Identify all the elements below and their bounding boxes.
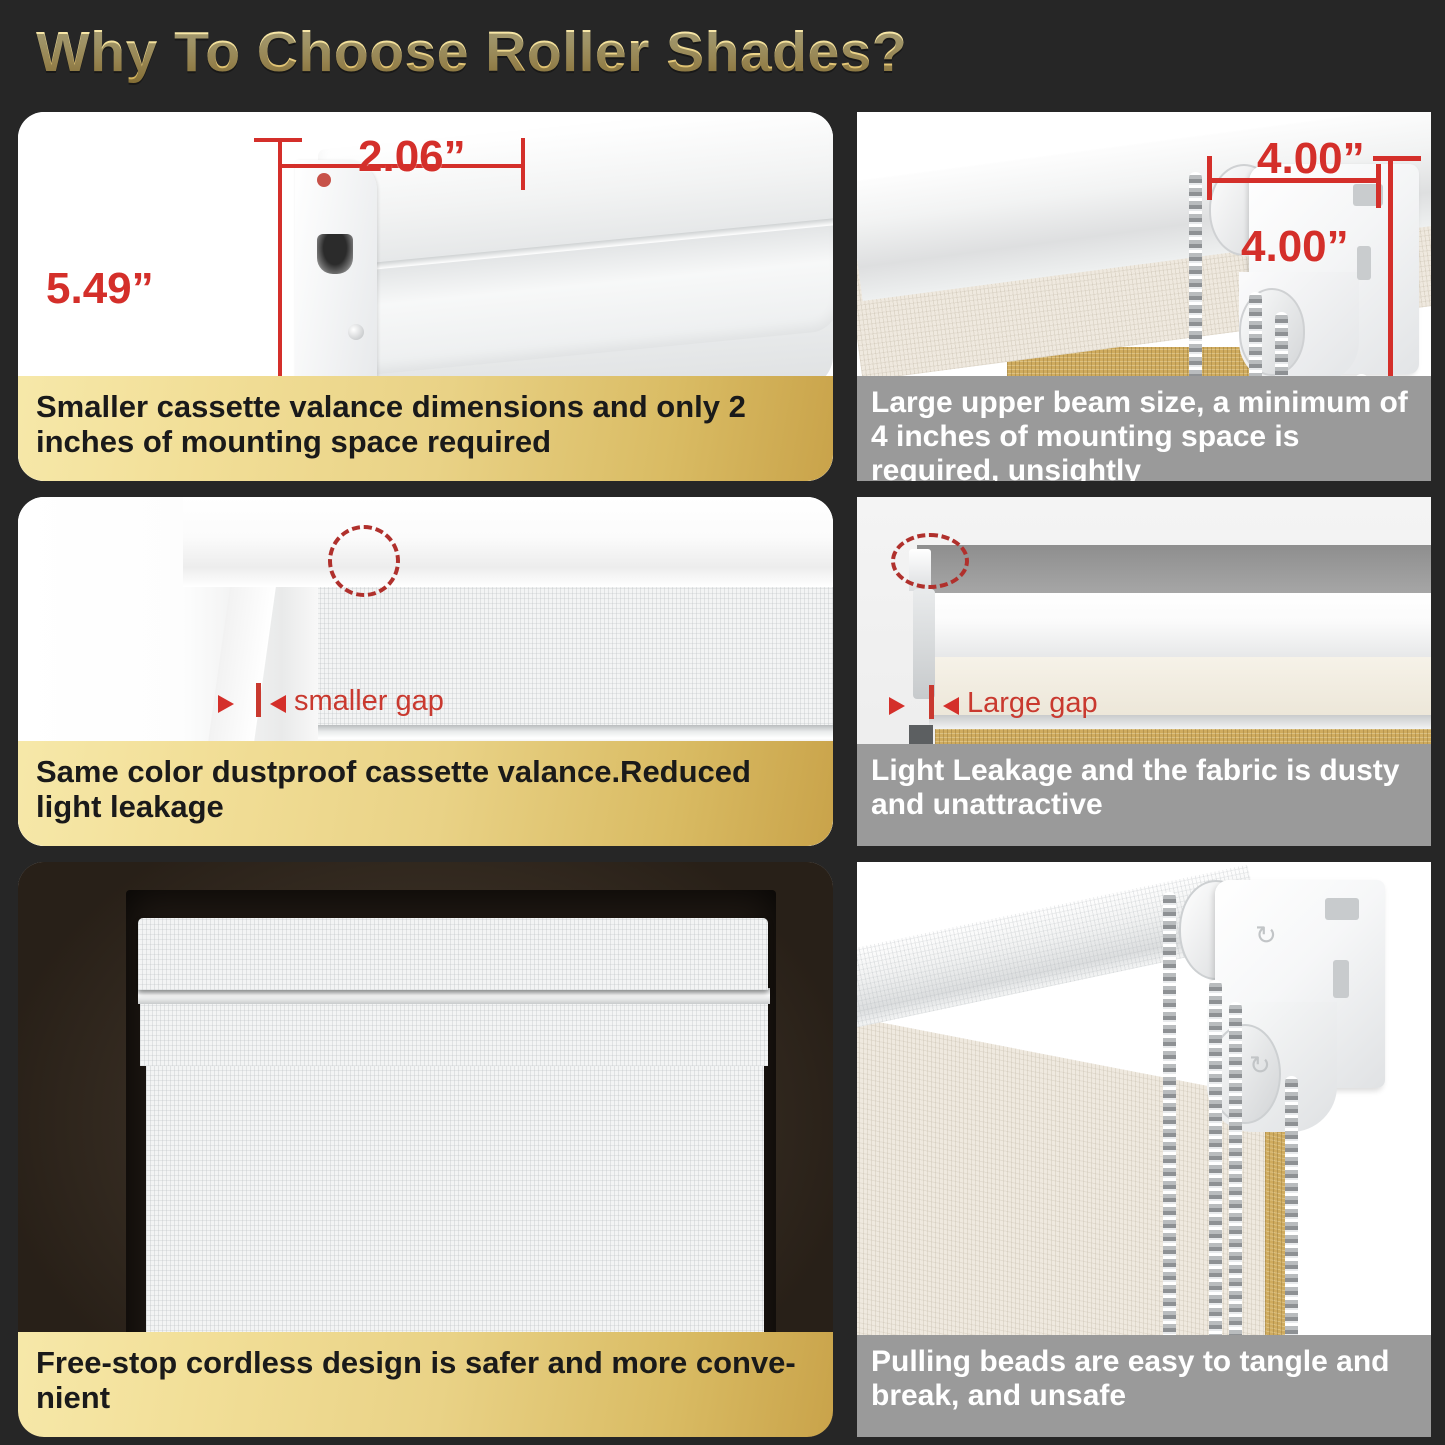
comparison-grid: 2.06” 5.49” Smaller cassette valance dim… xyxy=(0,104,1445,1445)
beam-width-tick-left xyxy=(1207,156,1212,200)
valance-slot xyxy=(317,234,353,274)
width-dimension-tick-right xyxy=(521,138,525,190)
highlight-circle xyxy=(891,533,969,589)
bracket-slot-1 xyxy=(1325,898,1359,920)
beam-width-label: 4.00” xyxy=(1257,134,1365,184)
gap-marker xyxy=(929,685,934,719)
caption-cassette-valance-dimensions: Smaller cassette valance dimensions and … xyxy=(18,376,833,481)
valance-lower-face xyxy=(140,1004,768,1066)
beam-width-tick-right xyxy=(1376,164,1381,208)
page-header: Why To Choose Roller Shades? xyxy=(0,0,1445,104)
gap-arrow-right xyxy=(270,695,286,713)
bead-chain-4 xyxy=(1285,1076,1298,1344)
height-dimension-tick-top xyxy=(254,138,302,142)
gap-arrow-left xyxy=(218,695,234,713)
width-dimension-label: 2.06” xyxy=(358,132,466,182)
valance-pin xyxy=(317,173,331,187)
caption-text: Pulling beads are easy to tangle and bre… xyxy=(871,1345,1419,1413)
window-frame-top xyxy=(183,497,833,587)
caption-text: Same color dustproof cassette valance.Re… xyxy=(36,754,817,824)
beam-height-label: 4.00” xyxy=(1241,222,1349,272)
panel-large-upper-beam: 4.00” 4.00” Large upper beam size, a min… xyxy=(857,112,1431,481)
height-dimension-label: 5.49” xyxy=(46,264,154,314)
caption-cordless-design: Free-stop cordless design is safer and m… xyxy=(18,1332,833,1437)
highlight-circle xyxy=(328,525,400,597)
panel-cell-cordless-design: Free-stop cordless design is safer and m… xyxy=(0,854,851,1445)
valance-rail xyxy=(138,988,770,1004)
panel-cell-pulling-beads: ↻ ↻ Pulling beads are easy to tangle and… xyxy=(851,854,1445,1445)
gap-arrow-right xyxy=(943,697,959,715)
caption-large-upper-beam: Large upper beam size, a minimum of 4 in… xyxy=(857,376,1431,481)
panel-cordless-design: Free-stop cordless design is safer and m… xyxy=(18,862,833,1437)
caption-text: Light Leakage and the fabric is dusty an… xyxy=(871,754,1419,822)
gap-marker xyxy=(256,683,261,717)
rotation-arrow-icon: ↻ xyxy=(1255,920,1277,951)
page-title: Why To Choose Roller Shades? xyxy=(36,19,907,85)
bracket-clip xyxy=(913,589,935,699)
panel-cell-large-upper-beam: 4.00” 4.00” Large upper beam size, a min… xyxy=(851,104,1445,489)
large-gap-label: Large gap xyxy=(967,687,1098,720)
panel-pulling-beads: ↻ ↻ Pulling beads are easy to tangle and… xyxy=(857,862,1431,1437)
panel-cassette-valance-dimensions: 2.06” 5.49” Smaller cassette valance dim… xyxy=(18,112,833,481)
valance-screw xyxy=(348,324,364,340)
bracket-notch-2 xyxy=(1357,246,1371,280)
panel-cell-dustproof-cassette: smaller gap Same color dustproof cassett… xyxy=(0,489,851,854)
caption-dustproof-cassette: Same color dustproof cassette valance.Re… xyxy=(18,741,833,846)
bead-chain-1 xyxy=(1163,892,1176,1344)
cassette-valance xyxy=(138,918,768,990)
caption-text: Free-stop cordless design is safer and m… xyxy=(36,1345,817,1415)
smaller-gap-label: smaller gap xyxy=(294,685,444,718)
gap-arrow-left xyxy=(889,697,905,715)
rotation-arrow-icon: ↻ xyxy=(1249,1050,1271,1081)
caption-text: Large upper beam size, a minimum of 4 in… xyxy=(871,386,1419,481)
panel-cell-light-leakage: Large gap Light Leakage and the fabric i… xyxy=(851,489,1445,854)
valance-top xyxy=(917,593,1431,663)
caption-light-leakage: Light Leakage and the fabric is dusty an… xyxy=(857,744,1431,846)
bead-chain-3 xyxy=(1229,1002,1242,1344)
bead-chain-2 xyxy=(1209,980,1222,1344)
bracket-slot-2 xyxy=(1333,960,1349,998)
beam-shadow xyxy=(917,545,1431,597)
panel-dustproof-cassette: smaller gap Same color dustproof cassett… xyxy=(18,497,833,846)
roller-shade-fabric xyxy=(146,1066,764,1366)
panel-cell-cassette-valance-dimensions: 2.06” 5.49” Smaller cassette valance dim… xyxy=(0,104,851,489)
caption-pulling-beads: Pulling beads are easy to tangle and bre… xyxy=(857,1335,1431,1437)
panel-light-leakage: Large gap Light Leakage and the fabric i… xyxy=(857,497,1431,846)
caption-text: Smaller cassette valance dimensions and … xyxy=(36,389,817,459)
beam-height-tick-top xyxy=(1373,156,1421,161)
